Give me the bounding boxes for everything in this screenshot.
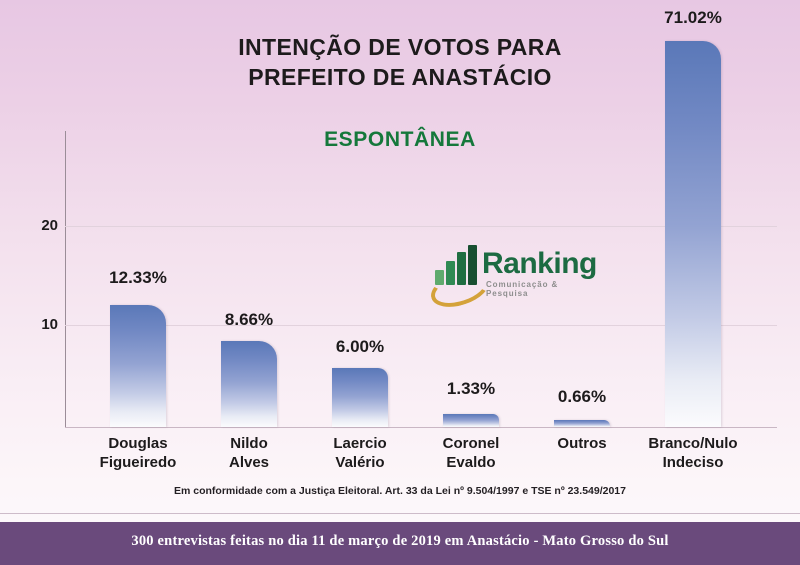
- bar-branco-nulo-indeciso[interactable]: [665, 41, 721, 427]
- value-label-branco-nulo-indeciso: 71.02%: [633, 8, 753, 28]
- logo-bar-3: [457, 252, 466, 285]
- category-label-branco-nulo-indeciso: Branco/Nulo Indeciso: [627, 434, 759, 472]
- bar-outros[interactable]: [554, 420, 610, 427]
- value-label-douglas-figueiredo: 12.33%: [78, 268, 198, 288]
- x-axis-baseline: [65, 427, 777, 428]
- bar-laercio-valerio[interactable]: [332, 368, 388, 427]
- category-line-2: Evaldo: [405, 453, 537, 472]
- bar-chart: 20 10 12.33% 8.66% 6.00% 1.33% 0.66% 71.…: [0, 0, 800, 470]
- y-tick-label-20: 20: [14, 217, 58, 234]
- survey-banner: 300 entrevistas feitas no dia 11 de març…: [0, 522, 800, 565]
- category-line-2: Indeciso: [627, 453, 759, 472]
- bar-douglas-figueiredo[interactable]: [110, 305, 166, 427]
- survey-banner-text: 300 entrevistas feitas no dia 11 de març…: [0, 533, 800, 550]
- bar-nildo-alves[interactable]: [221, 341, 277, 427]
- logo-wordmark: Ranking: [482, 247, 597, 281]
- logo-tagline: Comunicação & Pesquisa: [486, 280, 602, 298]
- value-label-coronel-evaldo: 1.33%: [411, 379, 531, 399]
- logo-bar-2: [446, 261, 455, 285]
- category-line-1: Branco/Nulo: [627, 434, 759, 453]
- value-label-outros: 0.66%: [522, 387, 642, 407]
- bar-coronel-evaldo[interactable]: [443, 414, 499, 427]
- logo-bar-4: [468, 245, 477, 285]
- value-label-laercio-valerio: 6.00%: [300, 337, 420, 357]
- footer-divider: [0, 513, 800, 514]
- value-label-nildo-alves: 8.66%: [189, 310, 309, 330]
- y-tick-label-10: 10: [14, 316, 58, 333]
- ranking-logo: Ranking Comunicação & Pesquisa: [432, 247, 602, 299]
- ranking-bars-icon: [432, 251, 480, 291]
- y-axis-line: [65, 131, 66, 428]
- poll-chart-poster: INTENÇÃO DE VOTOS PARA PREFEITO DE ANAST…: [0, 0, 800, 565]
- logo-bar-1: [435, 270, 444, 285]
- compliance-note: Em conformidade com a Justiça Eleitoral.…: [0, 485, 800, 497]
